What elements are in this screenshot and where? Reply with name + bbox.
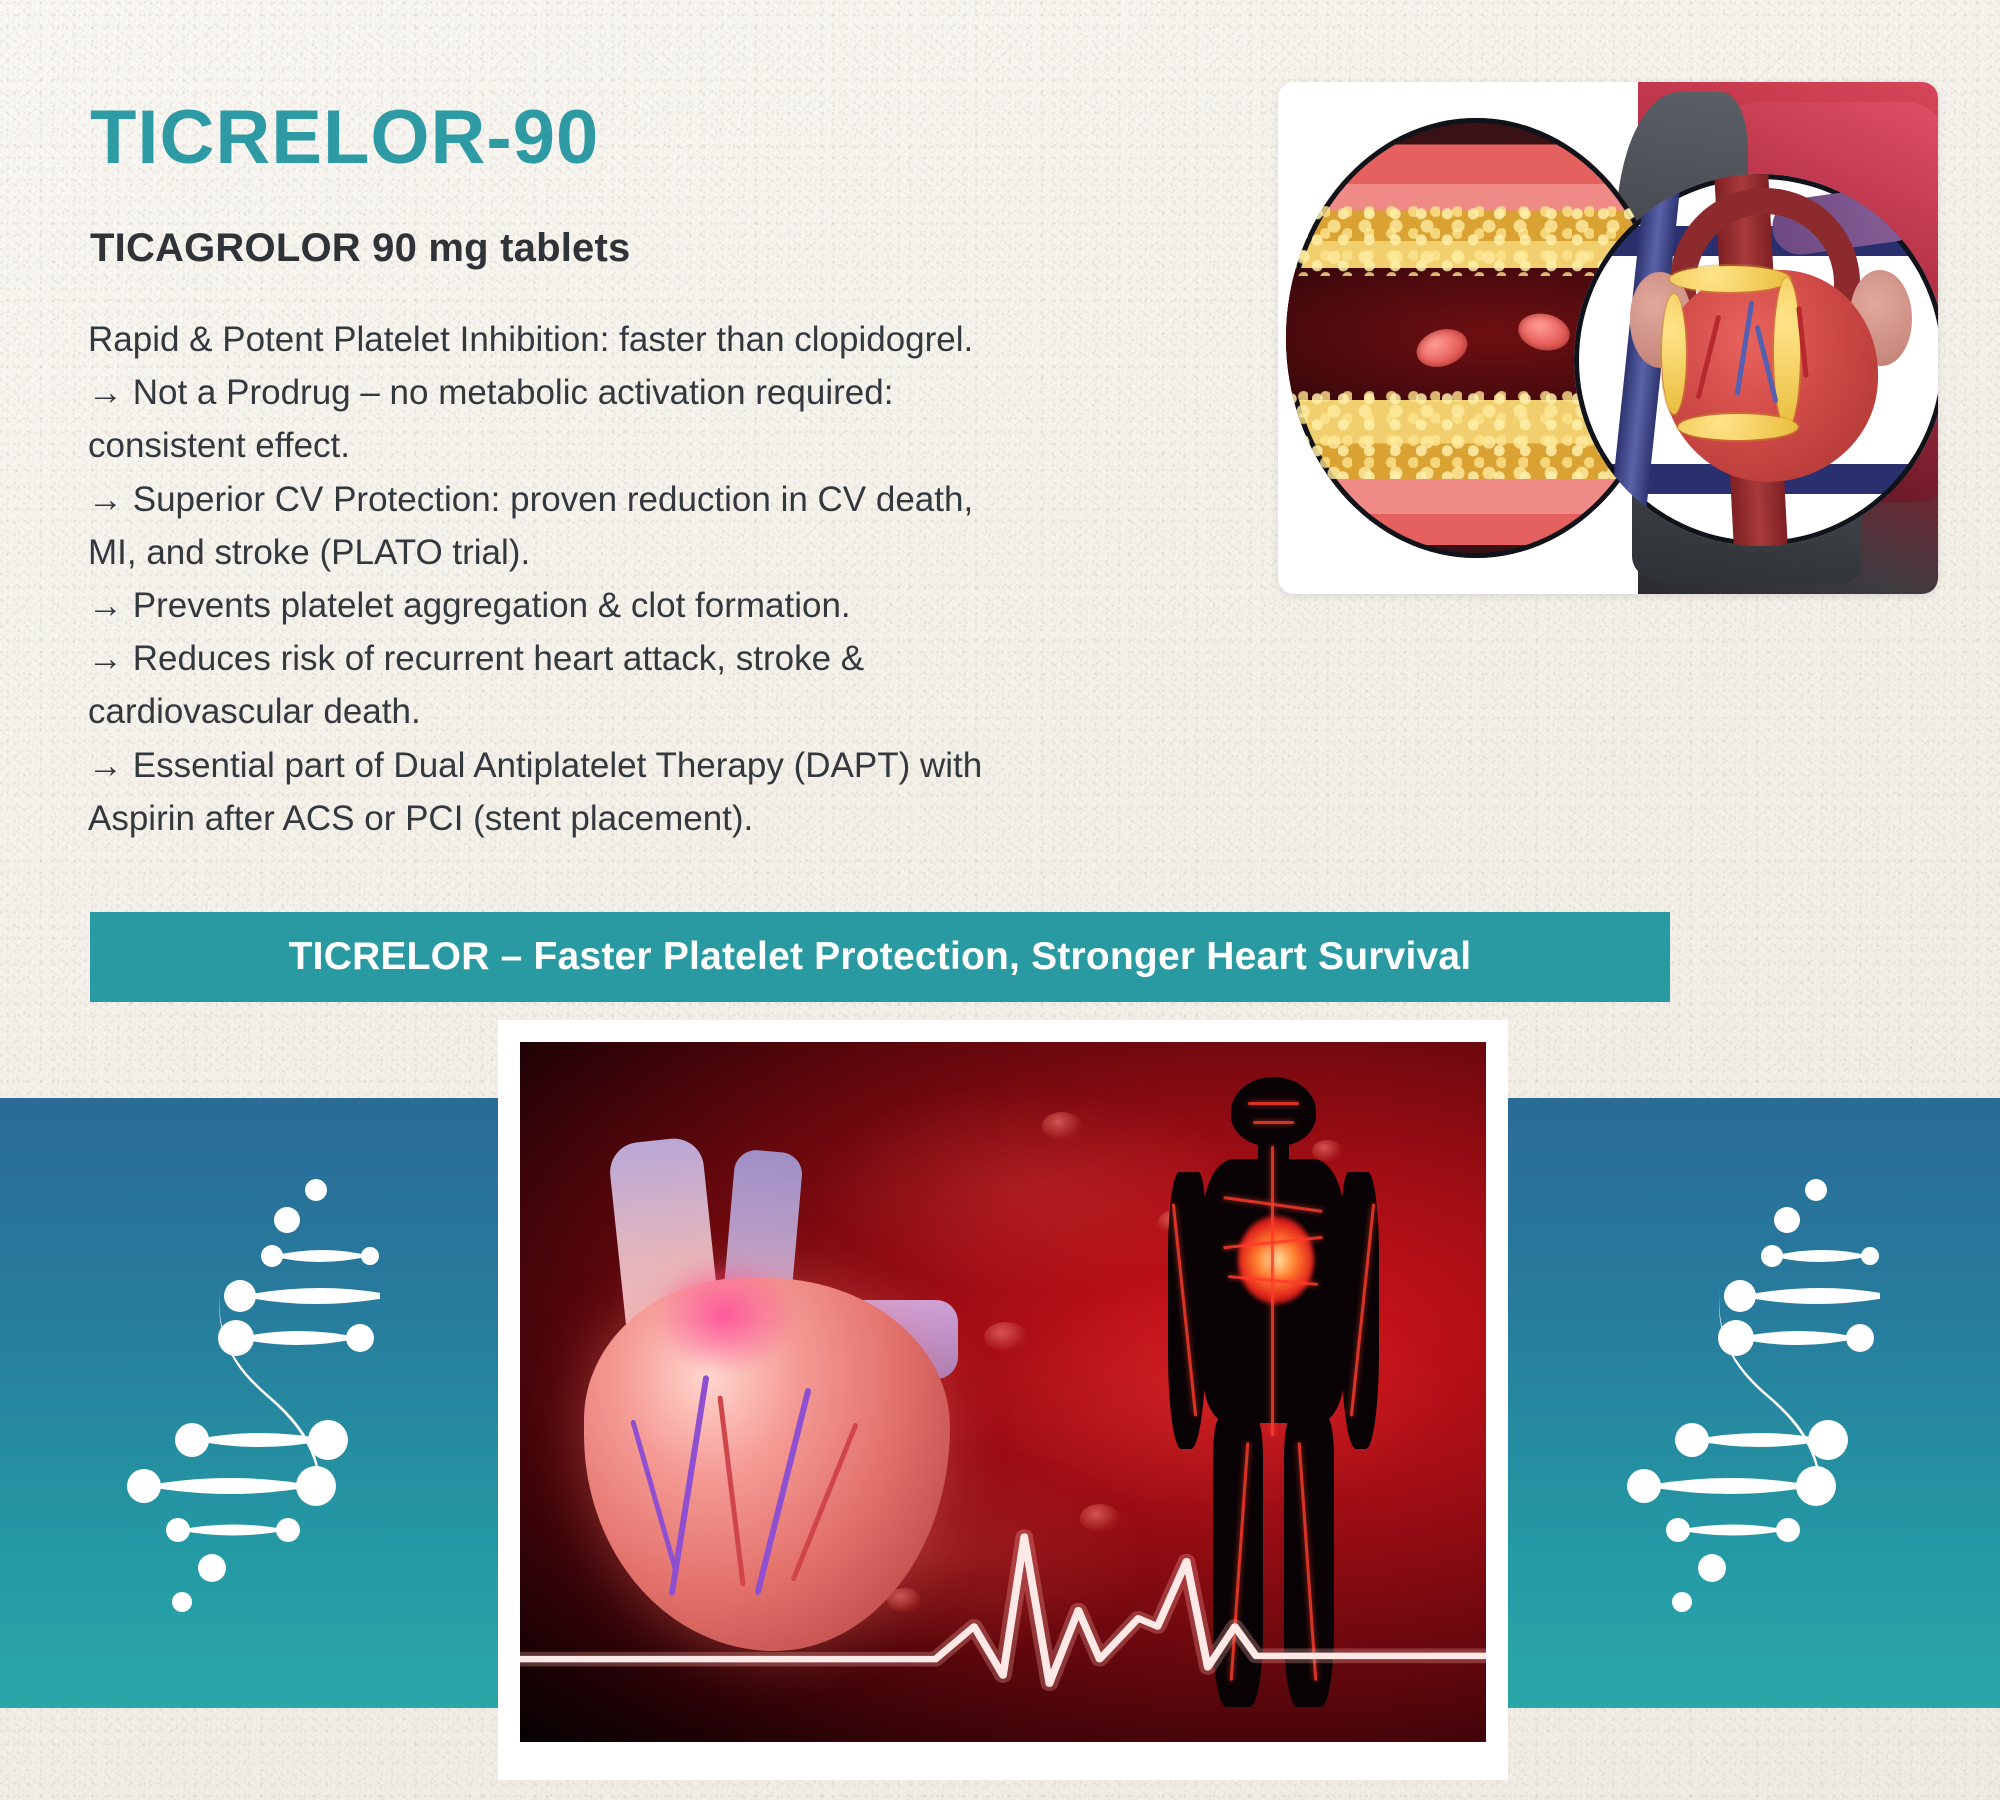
heart-coronary-inset xyxy=(1574,174,1938,546)
tagline-banner: TICRELOR – Faster Platelet Protection, S… xyxy=(90,912,1670,1002)
body-line: → Reduces risk of recurrent heart attack… xyxy=(88,632,1248,685)
body-line: → Prevents platelet aggregation & clot f… xyxy=(88,579,1248,632)
dna-helix-icon xyxy=(120,1168,380,1638)
body-line: MI, and stroke (PLATO trial). xyxy=(88,526,1248,579)
body-line: Rapid & Potent Platelet Inhibition: fast… xyxy=(88,313,1248,366)
dna-decoration-right xyxy=(1500,1098,2000,1708)
dna-decoration-left xyxy=(0,1098,500,1708)
heart-circulation-photo-frame xyxy=(498,1020,1508,1780)
body-line: → Essential part of Dual Antiplatelet Th… xyxy=(88,739,1248,792)
product-subtitle: TICAGROLOR 90 mg tablets xyxy=(90,226,630,271)
benefits-body-copy: Rapid & Potent Platelet Inhibition: fast… xyxy=(88,313,1248,845)
body-line: cardiovascular death. xyxy=(88,685,1248,738)
tagline-text: TICRELOR – Faster Platelet Protection, S… xyxy=(289,935,1472,979)
heart-circulation-ecg-photo xyxy=(520,1042,1486,1742)
poster-content: TICRELOR-90 TICAGROLOR 90 mg tablets Rap… xyxy=(0,0,2000,1800)
artery-plaque-and-heart-photo xyxy=(1278,82,1938,594)
ecg-heartbeat-line xyxy=(520,1504,1486,1700)
dna-helix-icon xyxy=(1620,1168,1880,1638)
body-line: Aspirin after ACS or PCI (stent placemen… xyxy=(88,792,1248,845)
body-line: consistent effect. xyxy=(88,419,1248,472)
page-title: TICRELOR-90 xyxy=(90,100,599,176)
body-line: → Not a Prodrug – no metabolic activatio… xyxy=(88,366,1248,419)
body-line: → Superior CV Protection: proven reducti… xyxy=(88,473,1248,526)
